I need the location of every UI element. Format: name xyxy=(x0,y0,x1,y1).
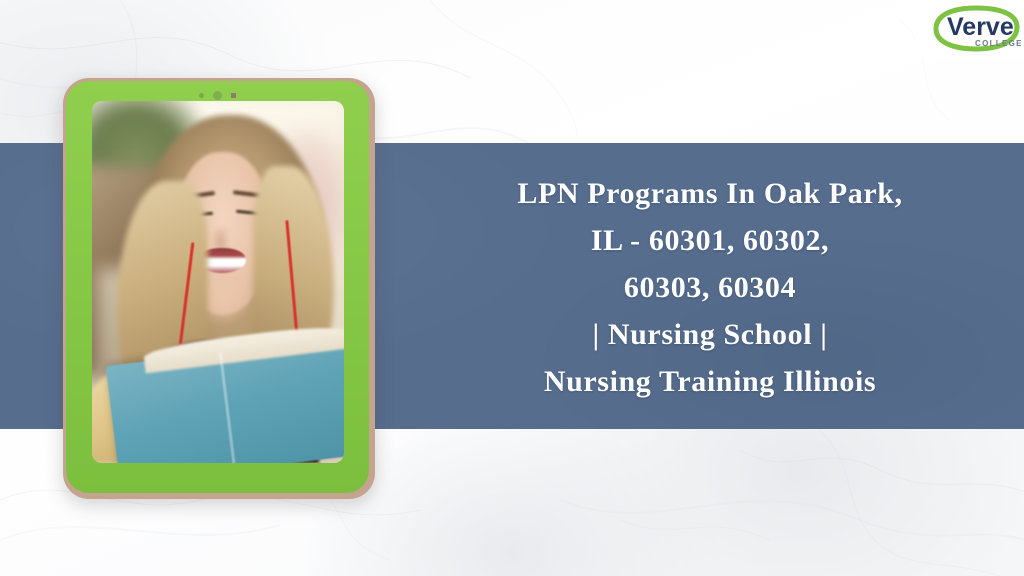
verve-college-logo[interactable]: Verve COLLEGE xyxy=(916,0,1024,58)
tablet-bezel xyxy=(66,81,369,493)
marketing-banner: LPN Programs In Oak Park, IL - 60301, 60… xyxy=(0,0,1024,576)
tablet-screen xyxy=(92,101,344,463)
logo-subtext: COLLEGE xyxy=(975,39,1022,48)
tablet-device xyxy=(63,78,375,499)
sensor-dot-icon xyxy=(199,93,204,98)
camera-lens-icon xyxy=(213,91,222,100)
tablet-camera-dots xyxy=(66,89,369,101)
indicator-dot-icon xyxy=(231,93,236,98)
page-title: LPN Programs In Oak Park, IL - 60301, 60… xyxy=(430,170,990,405)
student-photo xyxy=(92,101,344,463)
logo-wordmark: Verve xyxy=(947,13,1014,41)
